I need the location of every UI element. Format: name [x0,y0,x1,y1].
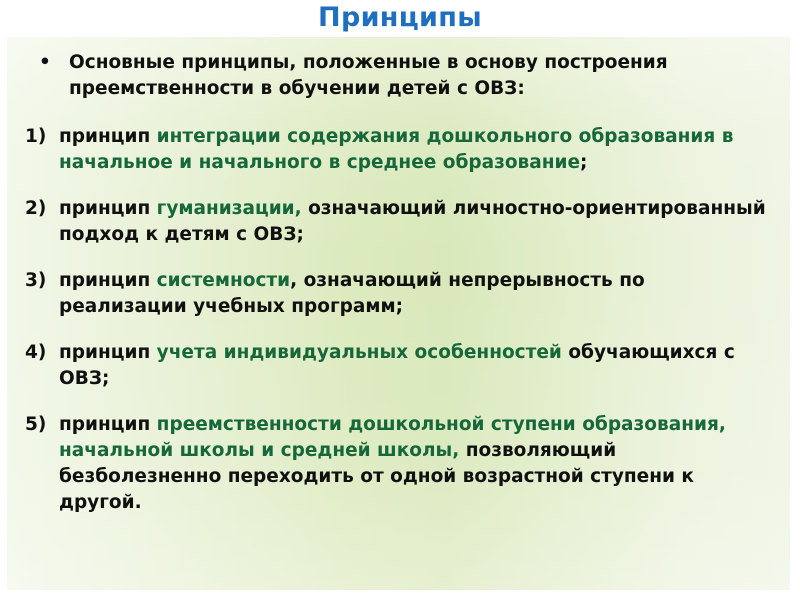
intro-bullet-item: • Основные принципы, положенные в основу… [21,50,778,102]
list-item-text: принцип интеграции содержания дошкольног… [59,124,778,176]
list-item: 1) принцип интеграции содержания дошколь… [21,124,778,176]
list-item-number: 3) [25,268,55,294]
list-item-number: 4) [25,340,55,366]
list-item: 4) принцип учета индивидуальных особенно… [21,340,778,392]
bullet-icon: • [39,50,53,76]
list-item-text: принцип гуманизации, означающий личностн… [59,196,778,248]
list-item-number: 5) [25,412,55,438]
list-item-text: принцип системности, означающий непрерыв… [59,268,778,320]
list-item: 5) принцип преемственности дошкольной ст… [21,412,778,516]
page-title: Принципы [0,2,800,34]
list-item-lead: принцип [59,198,157,219]
list-item-lead: принцип [59,126,157,147]
list-item-text: принцип преемственности дошкольной ступе… [59,412,778,516]
list-item-lead: принцип [59,270,157,291]
list-item-highlight: гуманизации, [157,198,302,219]
list-item-highlight: системности [157,270,290,291]
presentation-slide: Принципы • Основные принципы, положенные… [0,0,800,600]
list-item-highlight: интеграции содержания дошкольного образо… [59,126,733,173]
list-item-highlight: преемственности дошкольной ступени образ… [59,414,726,461]
slide-body: • Основные принципы, положенные в основу… [7,37,790,590]
title-band: Принципы [0,0,800,37]
list-item-highlight: учета индивидуальных особенностей [157,342,562,363]
list-item-tail: ; [580,152,587,173]
list-item: 2) принцип гуманизации, означающий лично… [21,196,778,248]
list-item-number: 2) [25,196,55,222]
intro-paragraph: Основные принципы, положенные в основу п… [69,50,778,102]
list-item-text: принцип учета индивидуальных особенносте… [59,340,778,392]
list-item: 3) принцип системности, означающий непре… [21,268,778,320]
list-item-number: 1) [25,124,55,150]
list-item-lead: принцип [59,342,157,363]
list-item-lead: принцип [59,414,157,435]
